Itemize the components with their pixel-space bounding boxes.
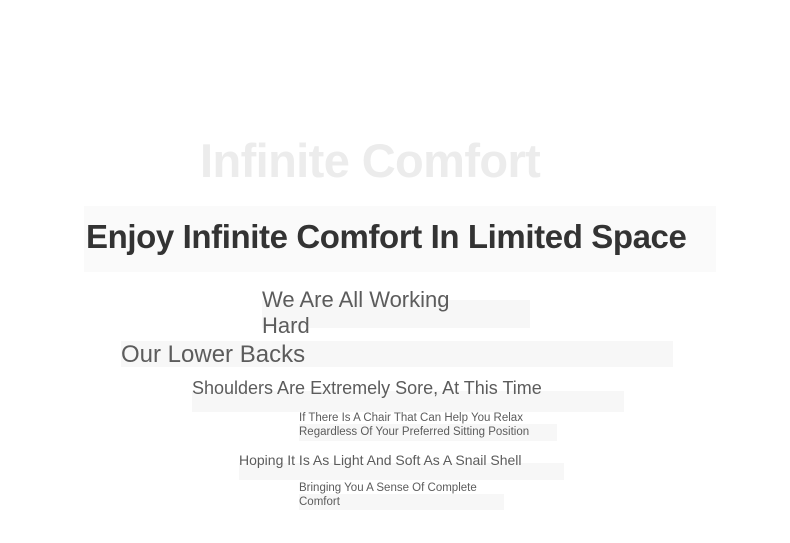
tagline-chair-relax: If There Is A Chair That Can Help You Re… <box>299 411 559 439</box>
tagline-shoulders-sore: Shoulders Are Extremely Sore, At This Ti… <box>192 378 612 399</box>
tagline-lower-backs: Our Lower Backs <box>121 341 541 369</box>
tagline-working-hard: We Are All Working Hard <box>262 287 492 338</box>
page-title: Enjoy Infinite Comfort In Limited Space <box>86 218 706 256</box>
tagline-complete-comfort: Bringing You A Sense Of Complete Comfort <box>299 481 499 509</box>
promo-banner: Infinite Comfort Enjoy Infinite Comfort … <box>0 0 790 543</box>
tagline-snail-shell: Hoping It Is As Light And Soft As A Snai… <box>239 452 559 468</box>
watermark-title: Infinite Comfort <box>200 134 600 189</box>
